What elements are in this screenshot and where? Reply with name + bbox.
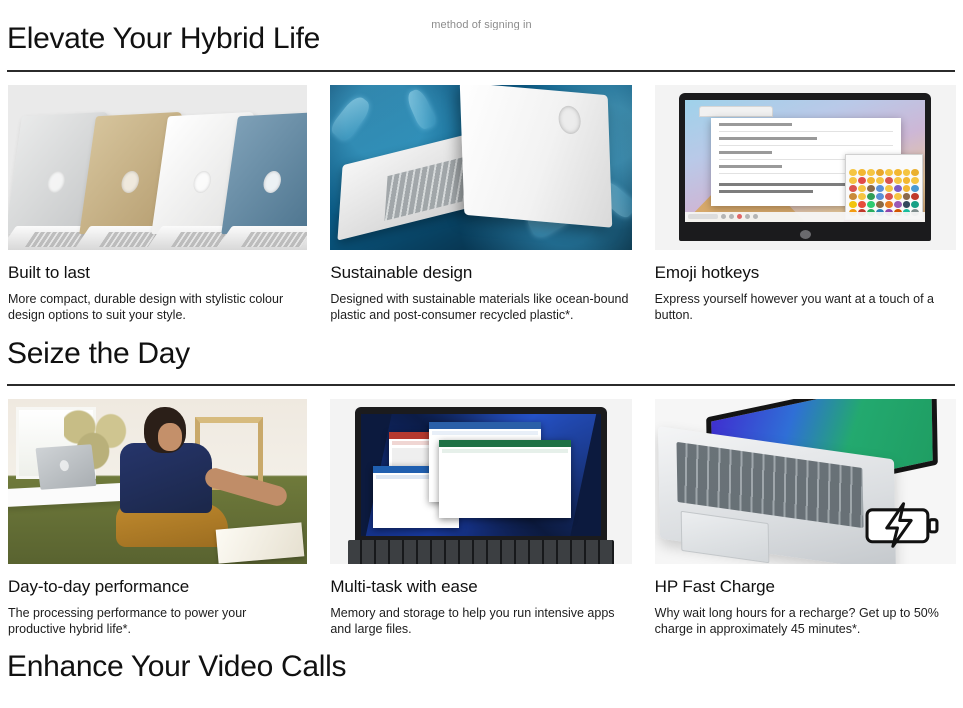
laptop-chin [679, 229, 931, 240]
laptop-screen [685, 100, 925, 222]
cut-off-caption: method of signing in [0, 18, 963, 30]
section-heading-2: Seize the Day [0, 337, 963, 372]
person-face [158, 423, 182, 451]
feature-card[interactable]: HP Fast Charge Why wait long hours for a… [655, 399, 956, 637]
feature-card[interactable]: Day-to-day performance The processing pe… [8, 399, 307, 637]
feature-card-description: Designed with sustainable materials like… [330, 291, 631, 323]
feature-card-description: Why wait long hours for a recharge? Get … [655, 605, 956, 637]
feature-card-title: HP Fast Charge [655, 577, 956, 597]
emoji-picker-panel[interactable] [845, 154, 923, 220]
feature-card-title: Multi-task with ease [330, 577, 631, 597]
feature-card-description: More compact, durable design with stylis… [8, 291, 307, 323]
feature-card[interactable]: Sustainable design Designed with sustain… [330, 85, 631, 323]
feature-card[interactable]: Emoji hotkeys Express yourself however y… [655, 85, 956, 323]
hp-logo-icon [800, 230, 811, 239]
silver-laptop-battery-charging-image [655, 399, 956, 564]
laptop-lid [459, 85, 612, 228]
product-feature-page: method of signing in Elevate Your Hybrid… [0, 22, 963, 708]
laptop-keyboard [348, 540, 613, 564]
app-window-spreadsheet[interactable] [439, 440, 571, 518]
feature-card-grid-1: Built to last More compact, durable desi… [0, 72, 963, 323]
emoji-grid[interactable] [849, 169, 919, 216]
laptop-multiple-open-windows-image [330, 399, 631, 564]
plastic-bottle-shape [330, 93, 374, 143]
feature-card-title: Built to last [8, 263, 307, 283]
feature-card-title: Day-to-day performance [8, 577, 307, 597]
feature-card[interactable]: Multi-task with ease Memory and storage … [330, 399, 631, 637]
feature-card-title: Sustainable design [330, 263, 631, 283]
email-to-field[interactable] [719, 123, 893, 132]
hp-logo-icon [46, 170, 66, 193]
white-laptop-ocean-plastic-bottles-image [330, 85, 631, 250]
browser-tab[interactable] [699, 106, 773, 117]
four-laptop-lids-colour-options-image [8, 85, 307, 250]
hp-logo-icon [262, 170, 282, 193]
person-torso [120, 443, 212, 513]
feature-card-grid-2: Day-to-day performance The processing pe… [0, 386, 963, 637]
feature-card-title: Emoji hotkeys [655, 263, 956, 283]
hp-logo-icon [120, 170, 140, 193]
plastic-bottle-shape [405, 87, 438, 131]
laptop-on-desk [35, 444, 96, 490]
feature-card-description: The processing performance to power your… [8, 605, 307, 637]
hp-logo-icon [558, 104, 581, 134]
battery-charging-icon [864, 502, 940, 548]
open-book [216, 522, 305, 563]
laptop-email-emoji-picker-image [655, 85, 956, 250]
person-sitting-on-rug-with-laptop-image [8, 399, 307, 564]
laptop-screen [361, 414, 601, 536]
hp-logo-icon [59, 460, 69, 472]
section-heading-3: Enhance Your Video Calls [0, 650, 963, 685]
feature-card-description: Express yourself however you want at a t… [655, 291, 956, 323]
laptop-frame [679, 93, 931, 241]
email-from-field[interactable] [719, 137, 893, 146]
feature-card[interactable]: Built to last More compact, durable desi… [8, 85, 307, 323]
laptop-frame [355, 407, 607, 555]
hp-logo-icon [192, 170, 212, 193]
feature-card-description: Memory and storage to help you run inten… [330, 605, 631, 637]
taskbar[interactable] [685, 212, 925, 222]
